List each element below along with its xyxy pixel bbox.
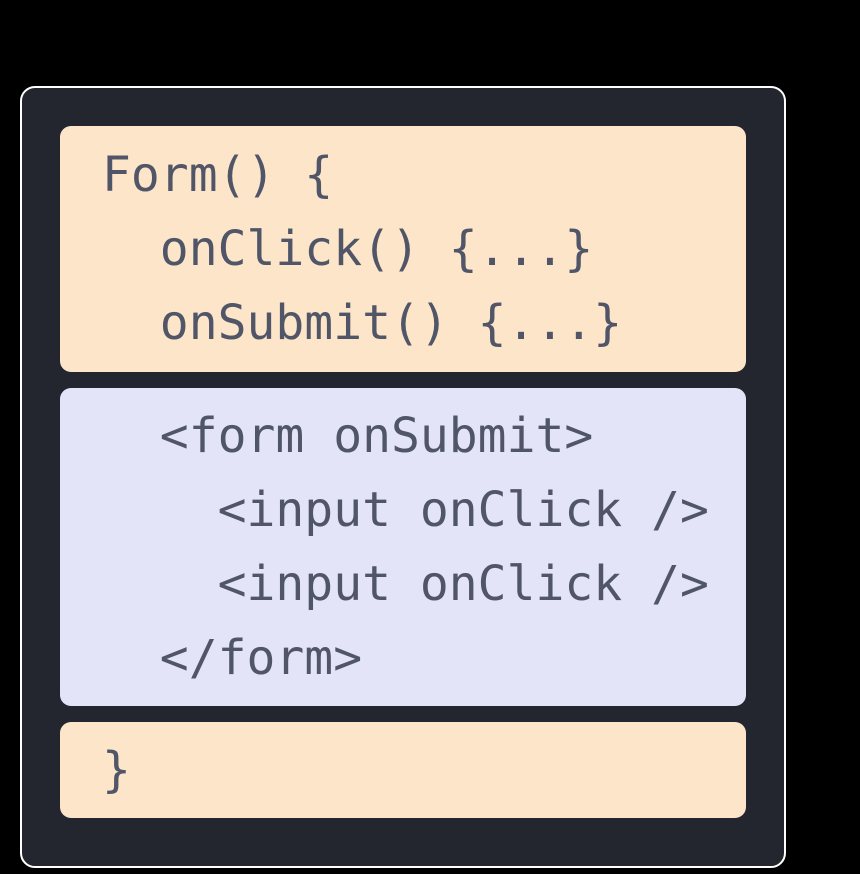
code-line: Form() { — [60, 138, 746, 212]
code-line: onSubmit() {...} — [60, 286, 746, 360]
code-panel-closing: } — [60, 722, 746, 818]
code-frame: Form() { onClick() {...} onSubmit() {...… — [20, 86, 786, 868]
code-panel-markup: <form onSubmit> <input onClick /> <input… — [60, 388, 746, 706]
code-line: } — [60, 733, 746, 807]
screenshot-canvas: Form() { onClick() {...} onSubmit() {...… — [0, 0, 860, 874]
code-line: </form> — [60, 621, 746, 695]
code-line: <input onClick /> — [60, 547, 746, 621]
code-panel-signature: Form() { onClick() {...} onSubmit() {...… — [60, 126, 746, 372]
code-line: <input onClick /> — [60, 473, 746, 547]
code-line: onClick() {...} — [60, 212, 746, 286]
code-line: <form onSubmit> — [60, 399, 746, 473]
